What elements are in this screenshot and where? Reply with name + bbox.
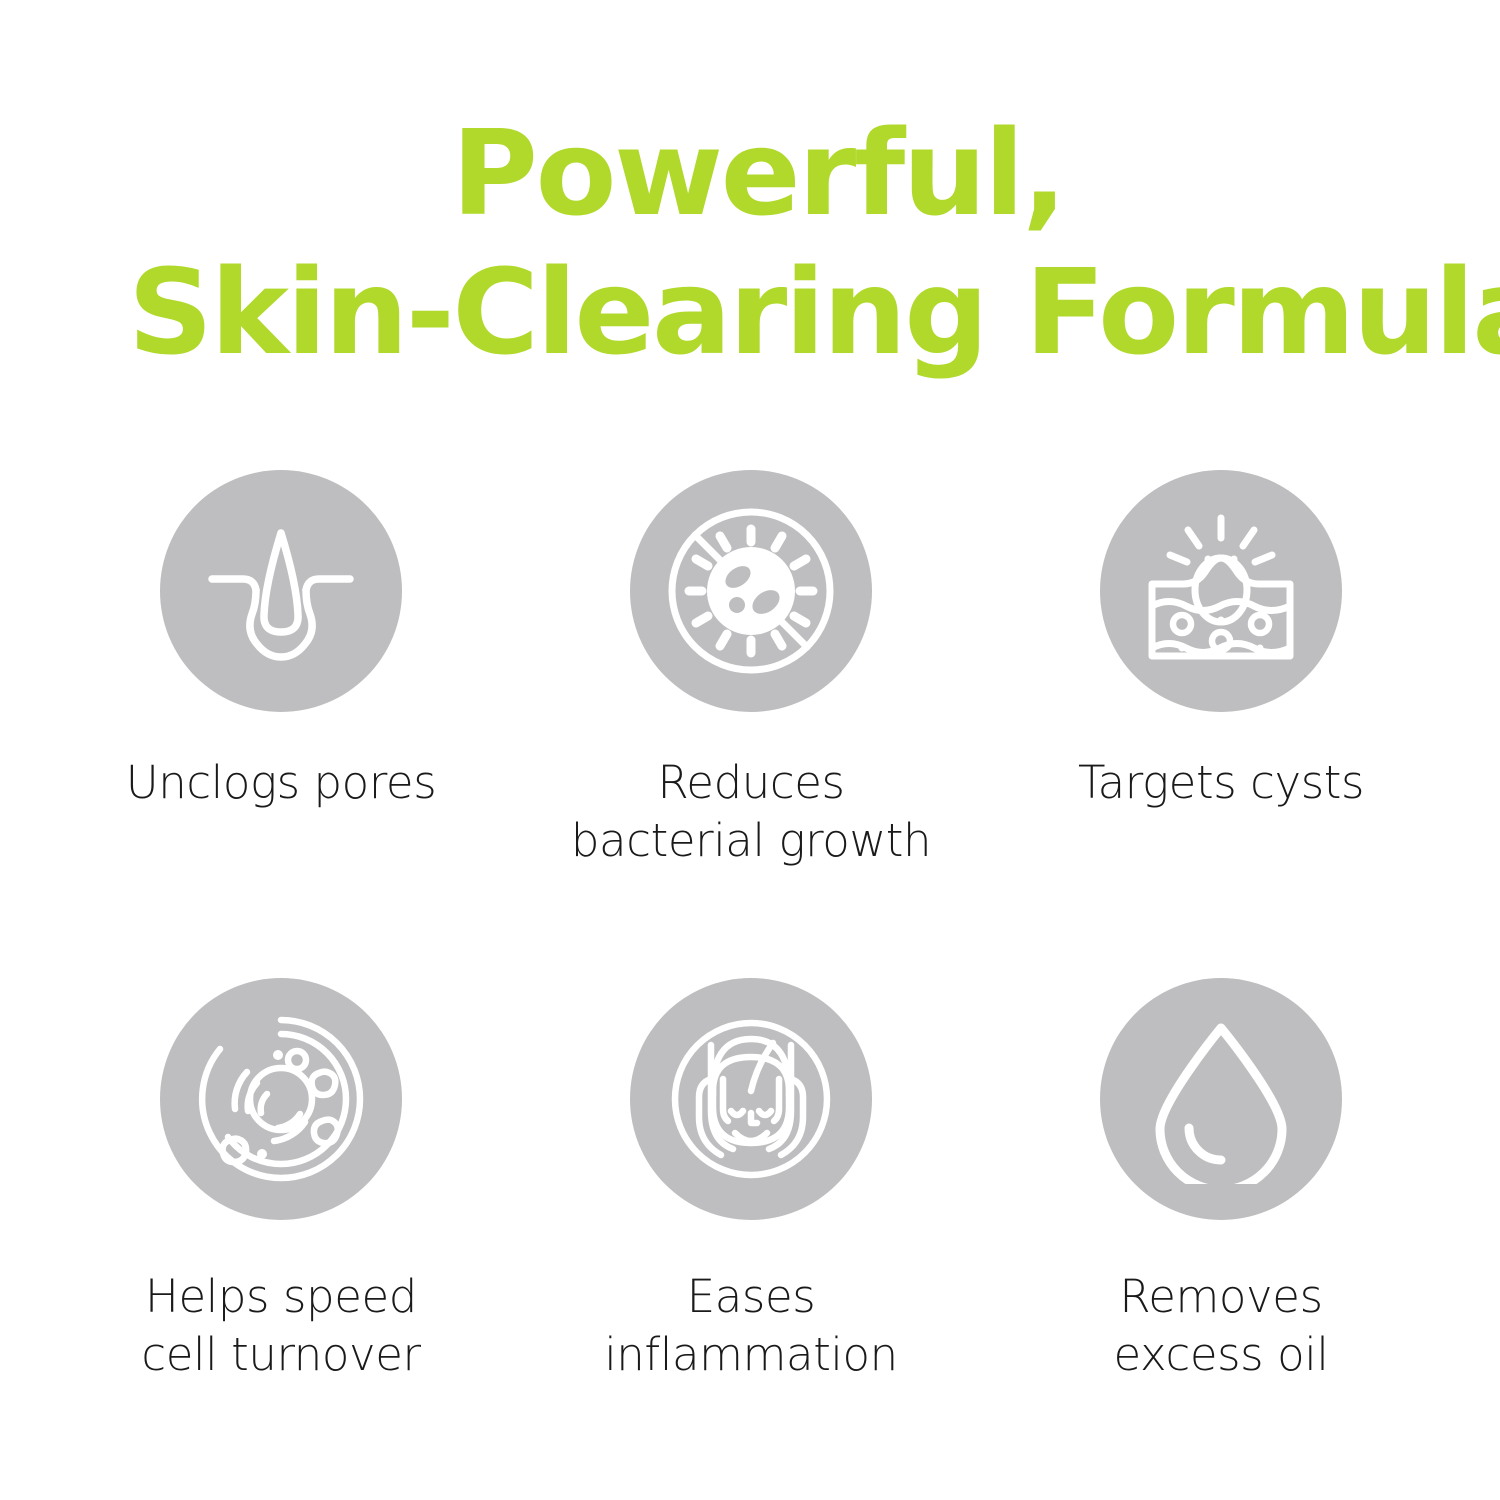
pore-follicle-icon: [196, 506, 366, 676]
feature-caption: Helps speed cell turnover: [141, 1268, 420, 1383]
infographic-page: Powerful, Skin-Clearing Formula: [0, 0, 1500, 1500]
feature-item-helps-speed-cell-turnover: Helps speed cell turnover: [46, 978, 516, 1486]
oil-droplet-icon: [1136, 1014, 1306, 1184]
feature-item-unclogs-pores: Unclogs pores: [46, 470, 516, 978]
feature-icon-badge: [160, 470, 402, 712]
feature-caption: Unclogs pores: [126, 754, 437, 812]
feature-caption: Targets cysts: [1078, 754, 1364, 812]
feature-item-targets-cysts: Targets cysts: [986, 470, 1456, 978]
relaxed-face-hands-icon: [661, 1009, 841, 1189]
feature-icon-badge: [1100, 470, 1342, 712]
feature-item-eases-inflammation: Eases inflammation: [516, 978, 986, 1486]
feature-caption: Eases inflammation: [604, 1268, 898, 1383]
page-title-line-1: Powerful,: [128, 104, 1388, 243]
feature-grid: Unclogs pores: [46, 470, 1456, 1486]
skin-cyst-icon: [1132, 502, 1310, 680]
feature-item-removes-excess-oil: Removes excess oil: [986, 978, 1456, 1486]
feature-icon-badge: [1100, 978, 1342, 1220]
page-title-line-2: Skin-Clearing Formula: [128, 243, 1388, 382]
feature-icon-badge: [160, 978, 402, 1220]
feature-caption: Removes excess oil: [1114, 1268, 1329, 1383]
bacteria-blocked-icon: [658, 498, 844, 684]
skin-cell-icon: [190, 1008, 372, 1190]
feature-item-reduces-bacterial-growth: Reduces bacterial growth: [516, 470, 986, 978]
feature-icon-badge: [630, 470, 872, 712]
feature-caption: Reduces bacterial growth: [571, 754, 931, 869]
feature-icon-badge: [630, 978, 872, 1220]
page-title: Powerful, Skin-Clearing Formula: [128, 104, 1388, 382]
